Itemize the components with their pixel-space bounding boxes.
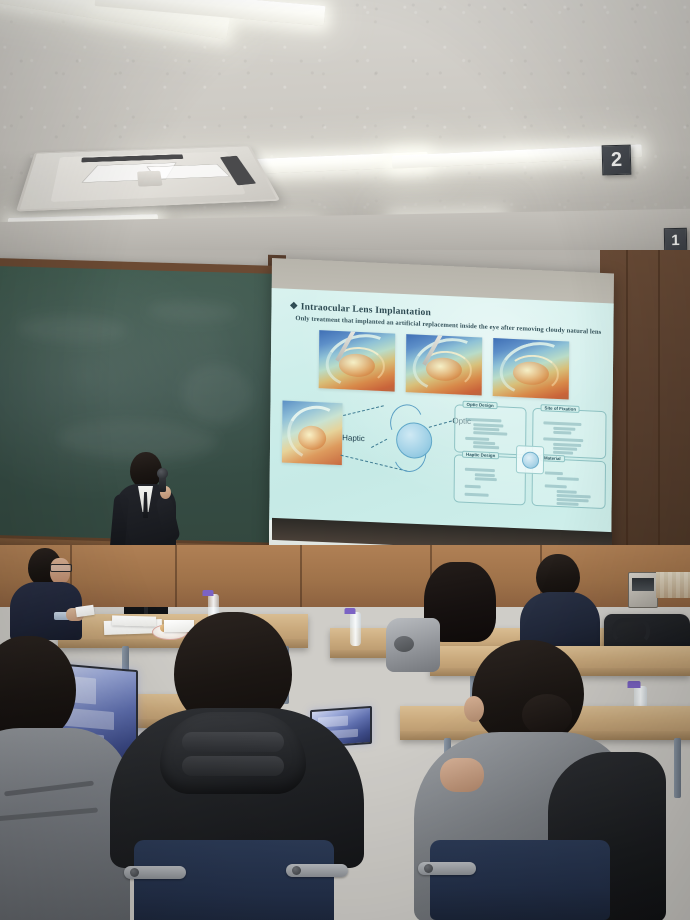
control-panel-display — [632, 578, 653, 592]
text-line — [553, 427, 575, 431]
text-line — [473, 445, 499, 449]
panel-seam — [175, 545, 177, 607]
text-line — [553, 431, 571, 434]
text-line — [473, 431, 507, 435]
site-of-fixation-header: Site of Fixation — [541, 404, 581, 413]
wall-number-sign-2: 2 — [602, 145, 632, 176]
text-line — [553, 451, 573, 455]
haptic-design-header: Haptic Design — [462, 451, 499, 460]
iol-lens-diagram — [378, 405, 447, 474]
heading-bullet-icon: ❖ — [289, 302, 298, 312]
optic-design-header: Optic Design — [463, 401, 498, 410]
text-line — [545, 484, 567, 488]
cataract-surgery-image-1 — [319, 330, 396, 391]
wall-number-sign-1: 1 — [664, 228, 687, 252]
wall-control-panel[interactable] — [628, 572, 658, 608]
wall-slat — [676, 572, 680, 598]
bottle-cap — [203, 590, 214, 596]
puffer-quilt-line — [182, 756, 284, 776]
ear — [464, 696, 484, 722]
text-line — [475, 473, 495, 477]
ac-center-hub — [137, 171, 163, 187]
chair-right[interactable] — [430, 840, 610, 920]
panel-seam — [626, 250, 628, 560]
presentation-slide: Introduction ❖ Intraocular Lens Implanta… — [269, 288, 613, 535]
iol-classification-diagram: Optic Design Site of Fixation — [454, 404, 605, 507]
text-line — [557, 477, 579, 481]
chalk-smudge — [182, 363, 252, 425]
chair-armrest — [124, 866, 186, 879]
chair-armrest — [286, 864, 348, 877]
ceiling-ac-unit — [16, 145, 280, 211]
attendee-head — [0, 636, 76, 740]
text-line — [543, 421, 581, 425]
text-line — [465, 437, 489, 441]
attendee-foreground-left — [0, 636, 120, 920]
text-line — [473, 441, 495, 445]
chair-center[interactable] — [134, 840, 334, 920]
iol-in-eye-thumbnail — [282, 400, 343, 465]
optic-disc — [396, 422, 432, 460]
front-row-attendee-left — [10, 548, 96, 638]
held-paper — [75, 605, 94, 617]
chalk-smudge — [17, 315, 127, 344]
microphone-head-icon — [157, 468, 168, 479]
text-line — [543, 437, 583, 441]
jacket-fold — [394, 636, 414, 652]
desk-leg — [674, 738, 681, 798]
eye-illustration-row — [319, 330, 570, 401]
wall-slat — [684, 572, 688, 598]
puffer-quilt-line — [182, 732, 284, 752]
panel-seam — [300, 545, 302, 607]
text-line — [465, 418, 501, 422]
cataract-surgery-image-3 — [493, 338, 570, 399]
text-line — [465, 493, 489, 497]
panel-seam — [658, 250, 660, 560]
text-line — [465, 485, 481, 488]
lecture-hall-photo: 2 1 Introduction ❖ Intraocular Lens Impl… — [0, 0, 690, 920]
wall-slat — [660, 572, 664, 598]
glasses-icon — [50, 564, 72, 572]
text-line — [557, 502, 579, 506]
chalk-smudge — [147, 300, 237, 323]
ceiling — [0, 0, 690, 268]
cataract-surgery-image-2 — [406, 334, 483, 395]
hair-bun-icon — [522, 694, 572, 736]
text-line — [475, 477, 497, 481]
label-haptic: Haptic — [342, 433, 365, 443]
puffer-hood — [160, 712, 306, 794]
chair-armrest — [418, 862, 476, 875]
text-line — [557, 490, 577, 494]
center-lens-icon — [516, 445, 544, 474]
hand-on-neck — [440, 758, 484, 792]
attendee-suit-right — [520, 554, 600, 646]
text-line — [545, 471, 563, 474]
wall-slat — [668, 572, 672, 598]
text-line — [553, 447, 577, 451]
attendee-foreground-center — [120, 612, 360, 920]
text-line — [465, 468, 495, 472]
